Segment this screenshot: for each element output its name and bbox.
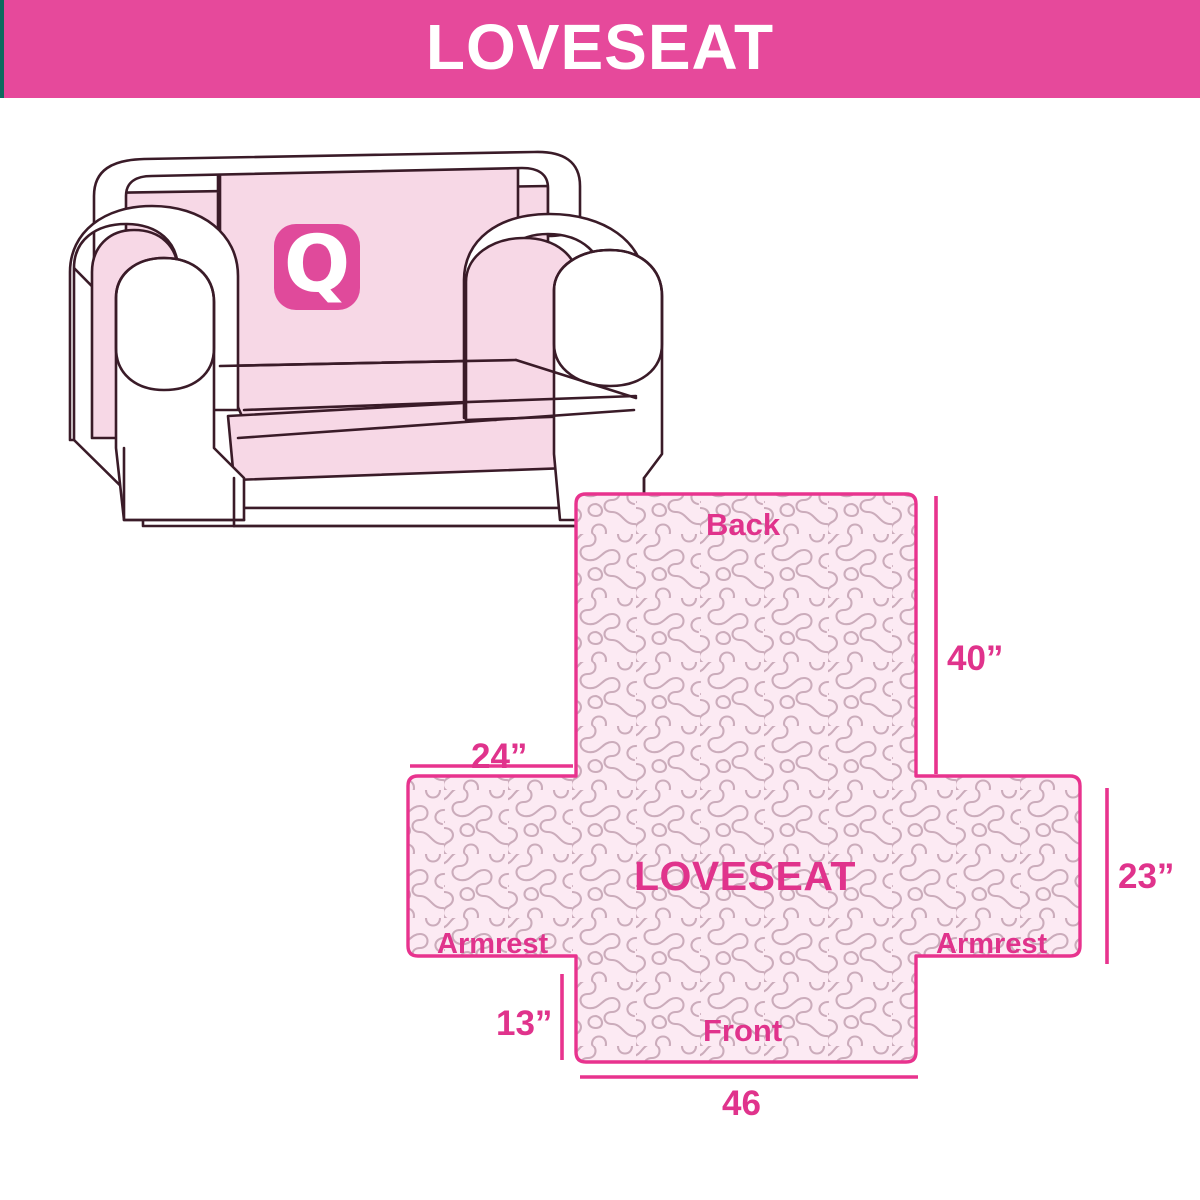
panel-label-front: Front — [703, 1015, 782, 1046]
dimension-label-armrest-height: 23” — [1118, 859, 1174, 894]
dimension-label-armrest-width: 24” — [471, 739, 527, 774]
slipcover-size-chart: LOVESEAT .ln { fill:none; stroke:#3a1b28… — [0, 0, 1200, 1200]
dimension-label-front-height: 13” — [496, 1006, 552, 1041]
diagram-center-label: LOVESEAT — [634, 856, 856, 897]
page-title: LOVESEAT — [0, 0, 1200, 98]
brand-logo-badge: Q — [274, 224, 360, 310]
logo-letter: Q — [284, 226, 350, 304]
dimension-label-back-height: 40” — [947, 641, 1003, 676]
header-banner: LOVESEAT — [0, 0, 1200, 98]
panel-label-back: Back — [706, 509, 780, 540]
panel-label-armrest-left: Armrest — [437, 930, 548, 959]
panel-label-armrest-right: Armrest — [936, 930, 1047, 959]
dimension-label-overall-width: 46 — [722, 1086, 761, 1121]
